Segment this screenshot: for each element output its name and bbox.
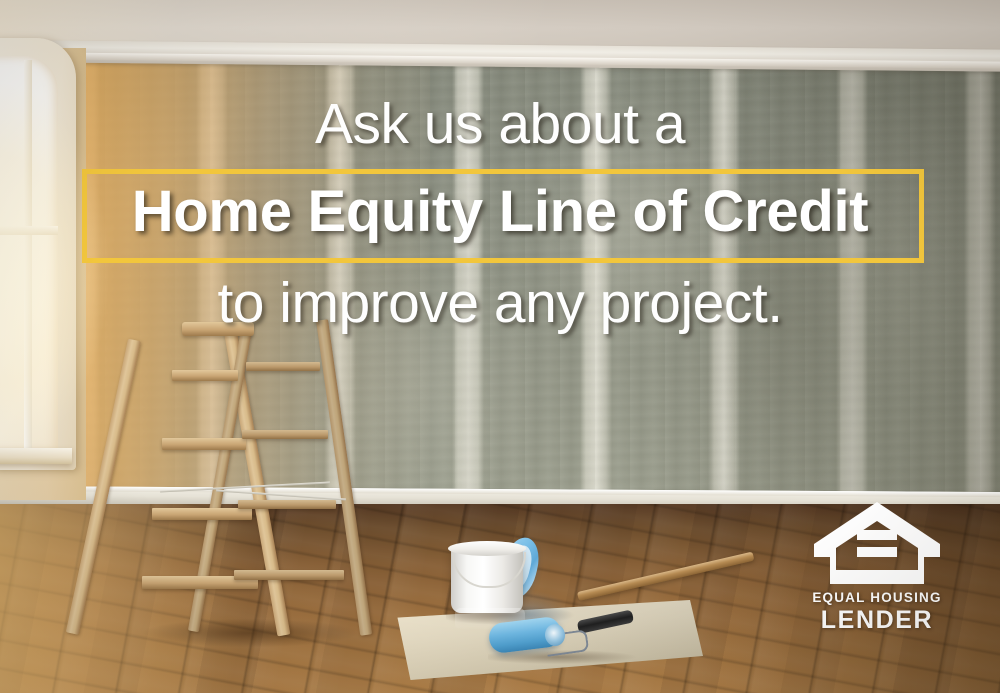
logo-text-equal-housing: EQUAL HOUSING [812,590,942,605]
ladder-rung [238,500,336,509]
headline-line-1: Ask us about a [0,96,1000,153]
logo-text-lender: LENDER [812,606,942,635]
equal-housing-house-icon [812,500,942,586]
ladder-rail-back-right [316,319,372,636]
ladder-step [152,508,252,520]
equal-housing-lender-logo: EQUAL HOUSING LENDER [812,500,942,635]
bucket-rim [448,541,526,556]
ladder-step [162,438,246,450]
ladder-rung [246,362,320,371]
stepladder [120,318,370,648]
window-sill [0,448,72,464]
headline-product-name: Home Equity Line of Credit [0,183,1000,241]
ladder-spreader-rod [216,489,346,500]
ladder-rung [242,430,328,439]
ladder-step [172,370,238,381]
headline-line-3: to improve any project. [0,275,1000,332]
ladder-rung [234,570,344,580]
promo-banner: Ask us about a Home Equity Line of Credi… [0,0,1000,693]
